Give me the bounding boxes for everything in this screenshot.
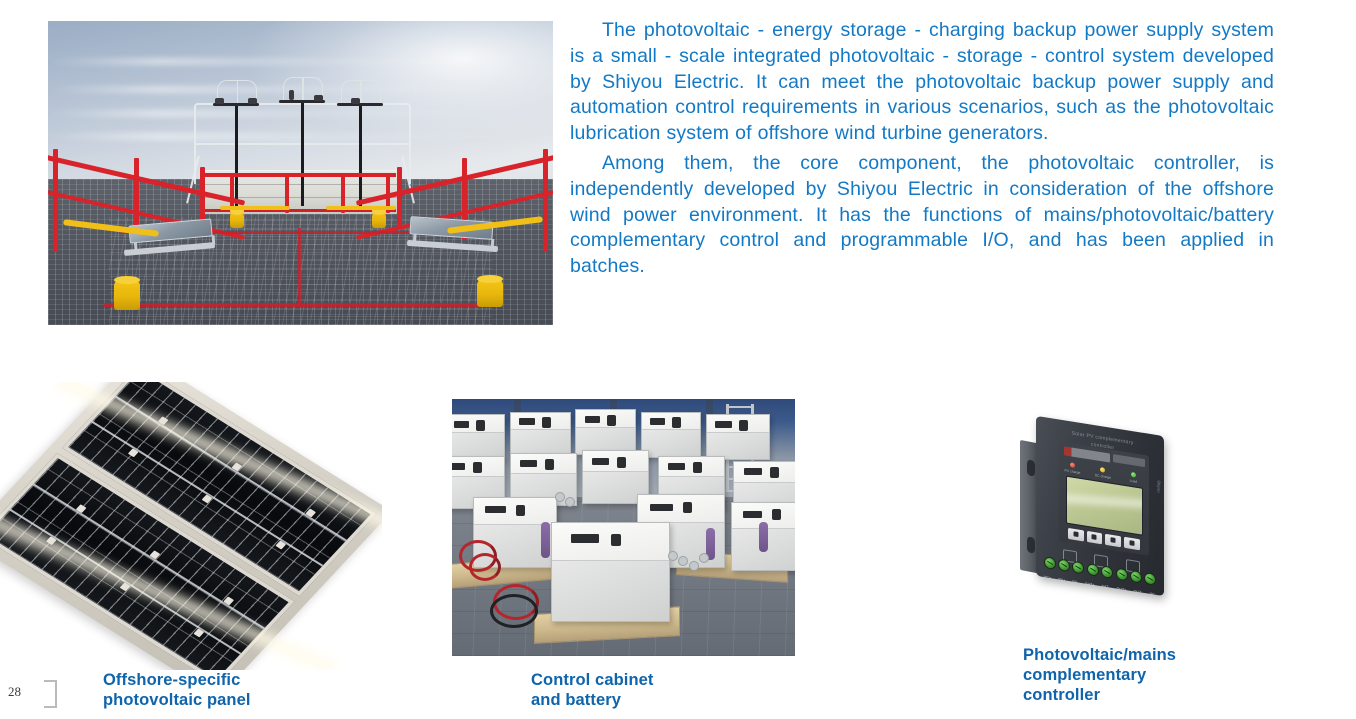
terminal-bat-positive[interactable]	[1087, 563, 1099, 577]
terminal-out-positive[interactable]	[1116, 567, 1128, 581]
terminal-label: PV+	[1058, 577, 1065, 582]
pv-charge-led-label: PV charge	[1061, 468, 1084, 476]
paragraph-2: Among them, the core component, the phot…	[570, 151, 1274, 280]
button-down[interactable]	[1105, 534, 1121, 547]
slide-canvas: The photovoltaic - energy storage - char…	[0, 0, 1356, 719]
pv-charge-led	[1070, 462, 1075, 468]
cabinet-unit-foreground	[551, 522, 670, 622]
terminal-label: OUT+	[1117, 586, 1127, 592]
caption-solar-panel: Offshore-specific photovoltaic panel	[103, 670, 353, 710]
caption-controller: Photovoltaic/mains complementary control…	[1023, 645, 1273, 705]
control-cabinet-photo	[452, 399, 795, 656]
button-up[interactable]	[1087, 531, 1103, 544]
terminal-label: OUT-	[1134, 589, 1143, 594]
anemometer-sensor	[213, 78, 259, 106]
button-pause[interactable]	[1068, 528, 1084, 541]
terminal-out-negative[interactable]	[1130, 570, 1142, 584]
caption-control-cabinet: Control cabinet and battery	[531, 670, 781, 710]
manufacturer-logo	[1064, 447, 1111, 463]
button-enter[interactable]	[1124, 537, 1140, 550]
cabinet-unit	[452, 414, 505, 460]
bollard-mid-left	[230, 211, 244, 228]
page-bracket-decoration	[44, 680, 57, 708]
terminal-bat-negative[interactable]	[1101, 565, 1113, 579]
caption-line: Offshore-specific	[103, 670, 353, 690]
terminal-label: PV-	[1072, 579, 1078, 584]
terminal-label: BAT+	[1085, 581, 1094, 586]
caption-line: complementary	[1023, 665, 1273, 685]
terminal-dc-negative[interactable]	[1144, 572, 1156, 586]
bollard-front-right	[477, 279, 503, 307]
cabinet-unit	[575, 409, 635, 455]
caption-line: photovoltaic panel	[103, 690, 353, 710]
anemometer-sensor	[337, 78, 383, 106]
paragraph-1: The photovoltaic - energy storage - char…	[570, 18, 1274, 147]
cabinet-unit	[510, 412, 570, 458]
controller-photo: Solar PV complementary controller PV cha…	[1010, 418, 1190, 608]
dc-charge-led	[1100, 467, 1105, 473]
terminal-label: BAT-	[1102, 584, 1110, 589]
offshore-platform-photo	[48, 21, 553, 325]
black-cable-coil	[490, 594, 538, 628]
terminal-dc-positive[interactable]	[1044, 556, 1056, 570]
caption-line: Control cabinet	[531, 670, 781, 690]
purple-cable	[541, 522, 550, 558]
terminal-pv-negative[interactable]	[1072, 560, 1084, 574]
caption-line: and battery	[531, 690, 781, 710]
sensor-mast-right	[359, 106, 362, 206]
sensor-mast-left	[235, 106, 238, 206]
kick-rail-rear-right	[326, 206, 397, 210]
panel-frame	[0, 382, 382, 670]
bollard-front-left	[114, 280, 140, 310]
kick-rail-rear-left	[220, 206, 291, 210]
cabinet-unit	[641, 412, 701, 458]
body-text-block: The photovoltaic - energy storage - char…	[570, 18, 1274, 284]
controller-side-label: Shiyou	[1156, 480, 1161, 493]
lcd-screen	[1066, 476, 1143, 536]
cabinet-unit	[706, 414, 770, 460]
page-number: 28	[8, 684, 21, 700]
purple-cable	[759, 522, 768, 552]
deck-center-marking	[298, 228, 301, 307]
caption-line: controller	[1023, 685, 1273, 705]
terminal-label: DC-	[1150, 591, 1157, 596]
solar-panel-photo	[0, 382, 382, 670]
controller-device-body: Solar PV complementary controller PV cha…	[1036, 416, 1164, 596]
controller-front-panel: PV charge DC charge Load	[1059, 442, 1149, 555]
terminal-label: DC+	[1044, 575, 1052, 580]
anemometer-sensor	[279, 75, 325, 103]
model-label	[1113, 454, 1145, 467]
bollard-mid-right	[372, 211, 386, 228]
load-led	[1131, 472, 1136, 478]
terminal-pv-positive[interactable]	[1058, 558, 1070, 572]
caption-line: Photovoltaic/mains	[1023, 645, 1273, 665]
sensor-mast-center	[301, 103, 304, 206]
